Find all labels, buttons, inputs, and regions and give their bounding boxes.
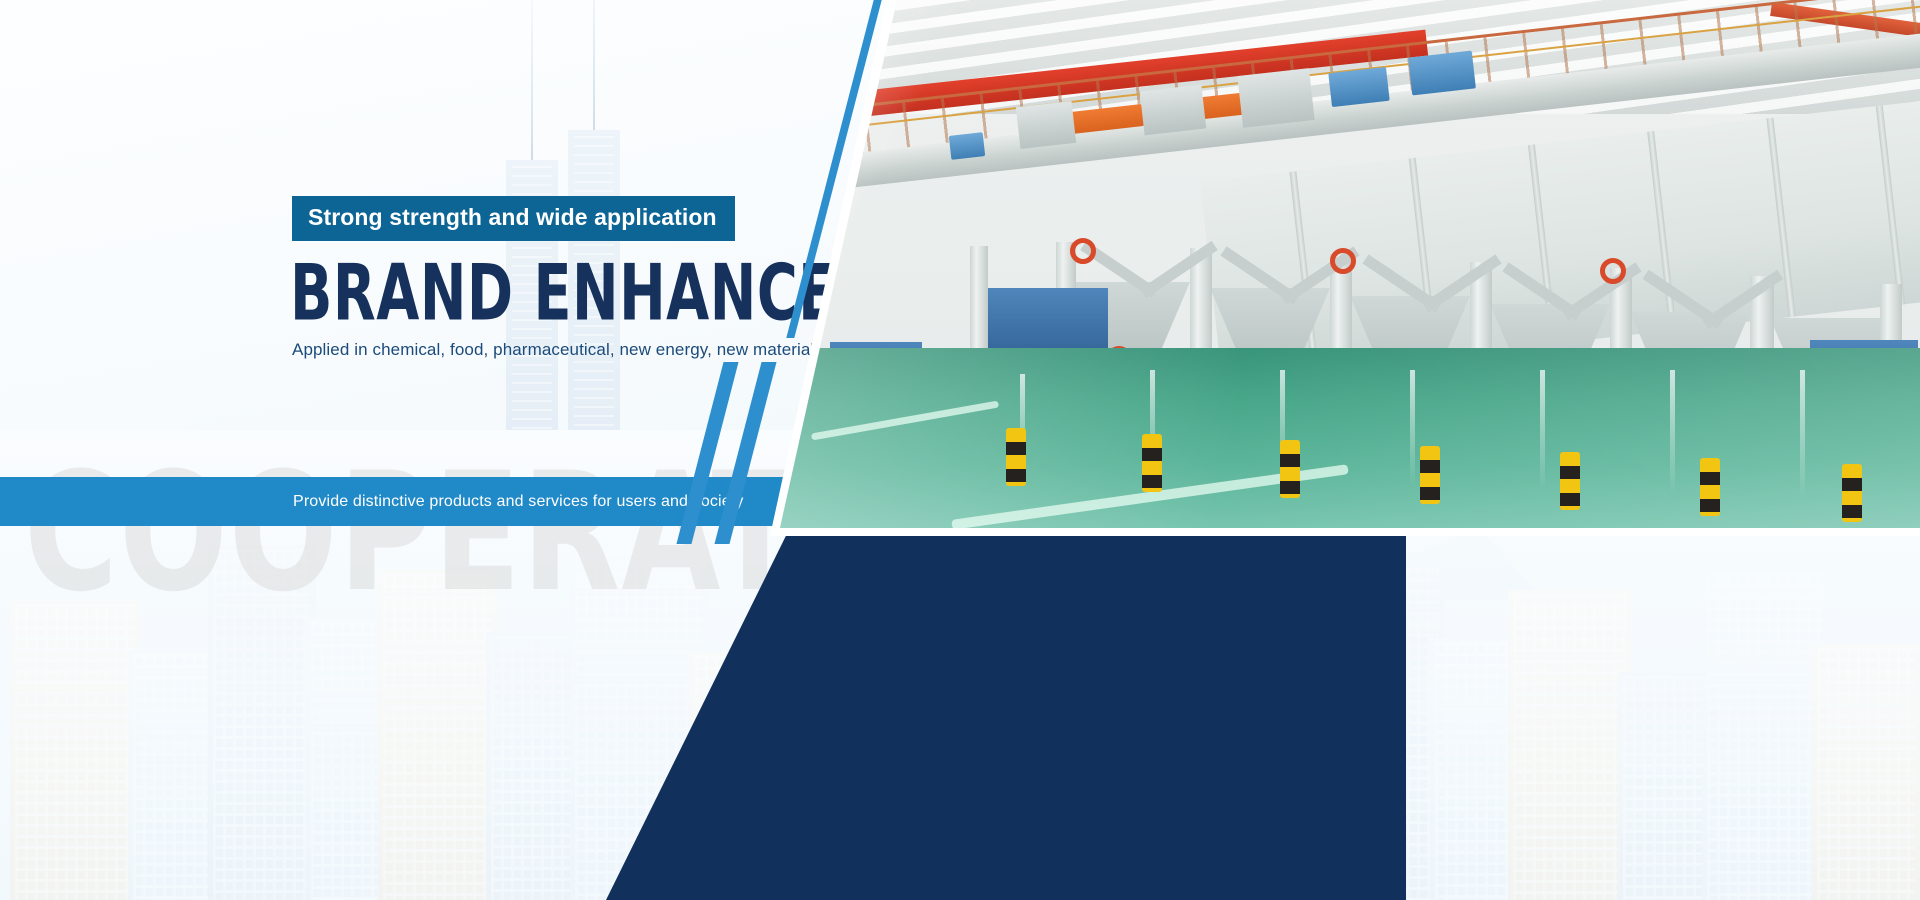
eyebrow-badge-label: Strong strength and wide application [308, 204, 717, 230]
page-subtitle: Applied in chemical, food, pharmaceutica… [292, 340, 856, 360]
hero-photo-frame [770, 0, 1920, 536]
hero-banner: COOPERATION Strong strength and wide app… [0, 0, 1920, 900]
tagline-text: Provide distinctive products and service… [293, 477, 744, 526]
photo-edge-highlight [770, 0, 1920, 536]
tagline-bar: Provide distinctive products and service… [0, 477, 898, 526]
industrial-plant-photo [770, 0, 1920, 536]
eyebrow-badge: Strong strength and wide application [292, 196, 735, 241]
